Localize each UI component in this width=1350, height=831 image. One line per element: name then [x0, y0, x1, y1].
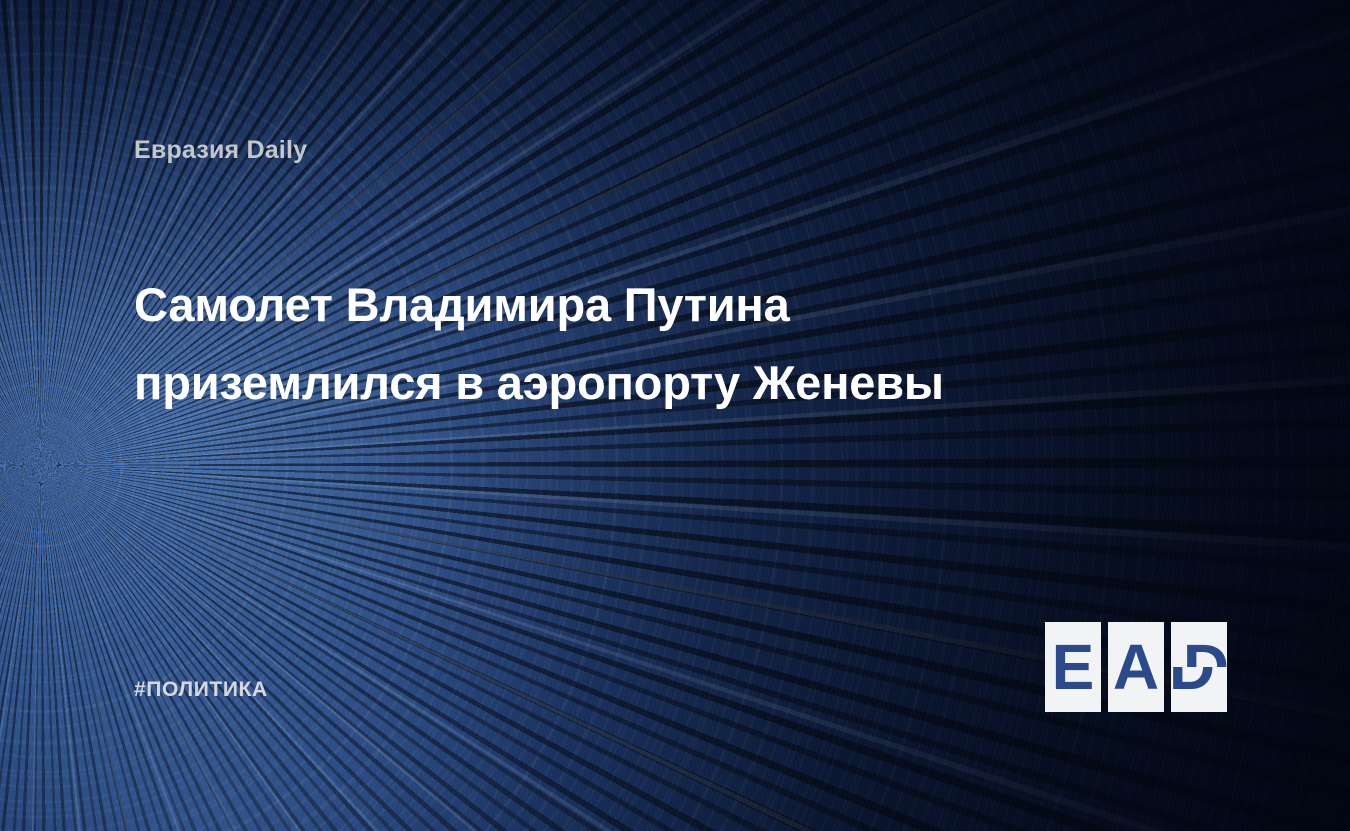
logo-letter-e: E	[1045, 622, 1101, 712]
page-title: Самолет Владимира Путина приземлился в а…	[134, 266, 1134, 422]
logo-letter-a: A	[1108, 622, 1164, 712]
logo-letter-d-top-half: D	[1171, 622, 1227, 667]
category-tag[interactable]: #ПОЛИТИКА	[134, 678, 268, 702]
logo-tile-e: E	[1045, 622, 1101, 712]
card-content: Евразия Daily Самолет Владимира Путина п…	[0, 0, 1350, 831]
logo-letter-d-bottom-half: D	[1171, 667, 1227, 712]
headline-line-2: приземлился в аэропорту Женевы	[134, 344, 1134, 422]
logo-letter-d-upper: D	[1178, 622, 1227, 667]
logo-tile-d: D D	[1171, 622, 1227, 712]
headline-line-1: Самолет Владимира Путина	[134, 266, 1134, 344]
brand-wordmark: Евразия Daily	[134, 136, 307, 165]
ead-logo[interactable]: E A D D	[1045, 622, 1227, 712]
logo-letter-d-lower: D	[1171, 667, 1220, 712]
news-card: Евразия Daily Самолет Владимира Путина п…	[0, 0, 1350, 831]
logo-tile-a: A	[1108, 622, 1164, 712]
